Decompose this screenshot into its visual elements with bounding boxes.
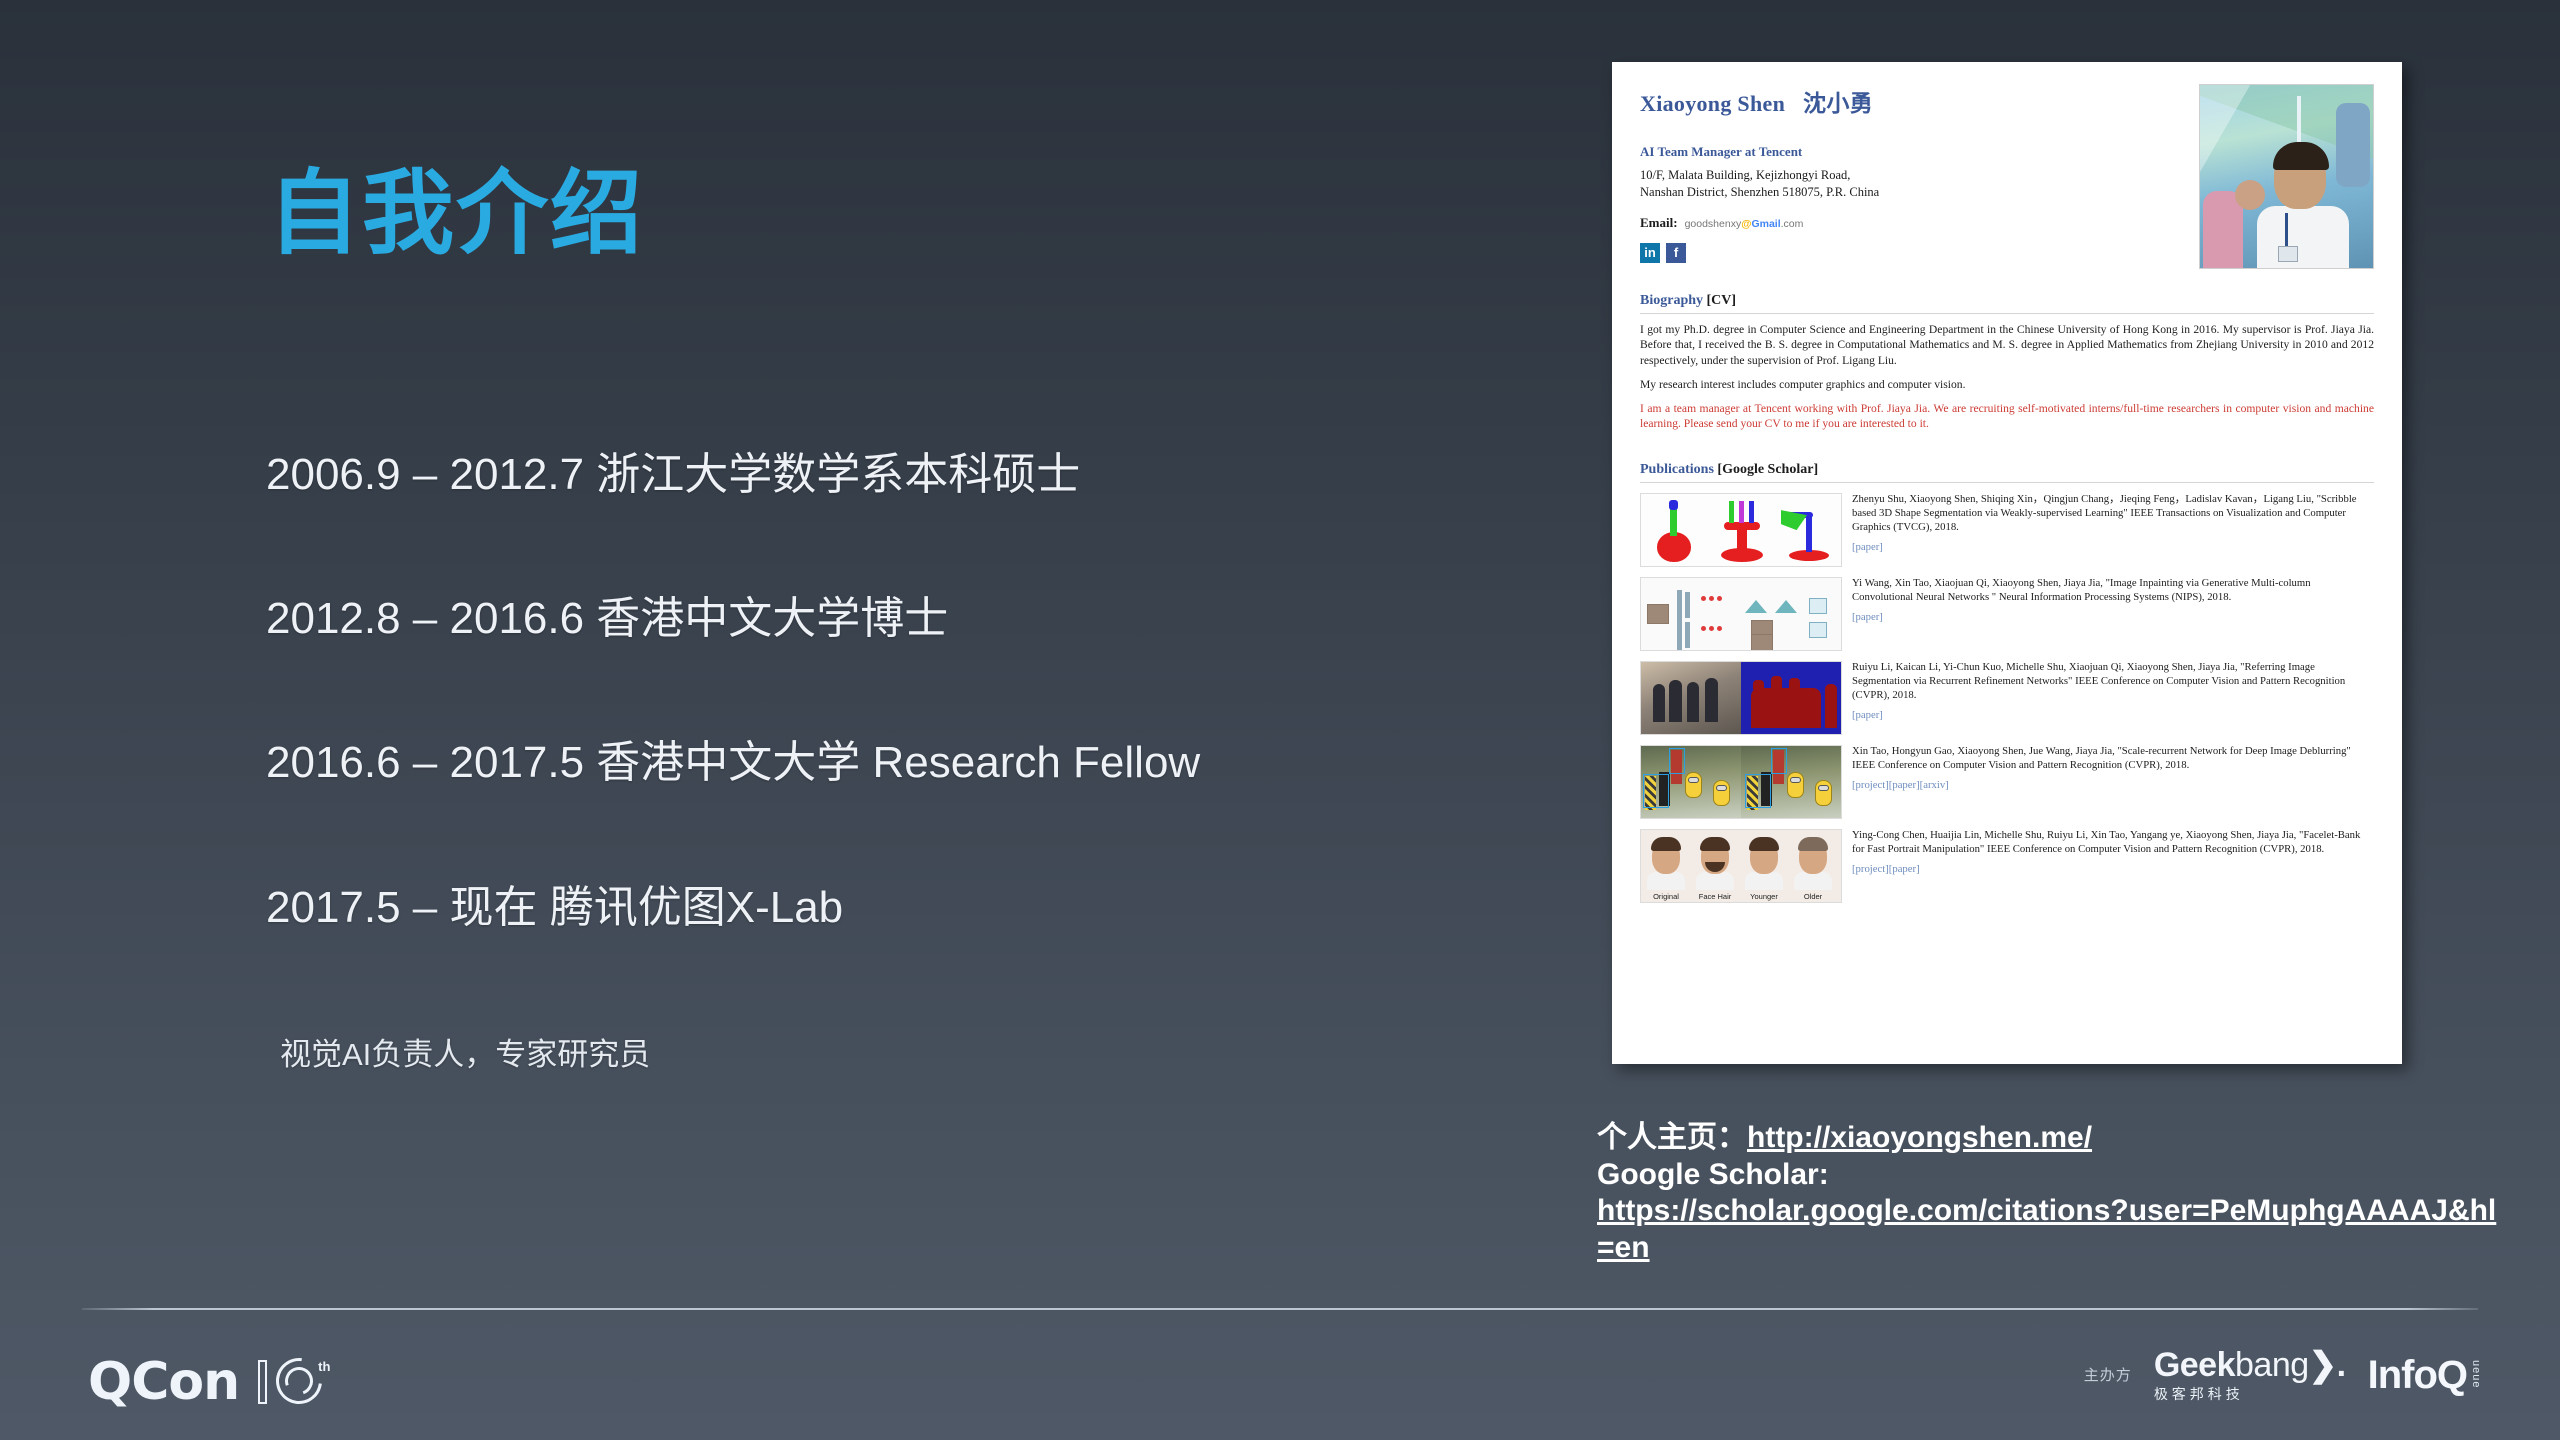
infoq-sub-label: ueue (2470, 1360, 2482, 1388)
sponsor-bar: 主办方 Geekbang❯. 极客邦科技 InfoQ ueue (2084, 1348, 2482, 1401)
timeline-item: 2012.8 – 2016.6 香港中文大学博士 (266, 596, 1546, 642)
timeline-item: 2017.5 – 现在 腾讯优图X-Lab (266, 885, 1546, 931)
publication-thumbnail-segmentation (1640, 661, 1842, 735)
publication-links[interactable]: [paper] (1852, 709, 2374, 723)
scholar-link[interactable]: https://scholar.google.com/citations?use… (1597, 1193, 2497, 1266)
contact-links: 个人主页：http://xiaoyongshen.me/ Google Scho… (1597, 1120, 2497, 1266)
homepage-label: 个人主页： (1597, 1121, 1747, 1154)
homepage-screenshot: Xiaoyong Shen沈小勇 AI Team Manager at Tenc… (1612, 62, 2402, 1064)
profile-photo (2199, 84, 2374, 269)
qcon-anniversary-icon: th (256, 1357, 330, 1407)
publication-citation: Xin Tao, Hongyun Gao, Xiaoyong Shen, Jue… (1852, 745, 2374, 793)
footer-divider (82, 1308, 2478, 1310)
geekbang-cn-label: 极客邦科技 (2154, 1387, 2244, 1401)
email-label: Email: (1640, 215, 1678, 231)
timeline-list: 2006.9 – 2012.7 浙江大学数学系本科硕士 2012.8 – 201… (266, 452, 1546, 1074)
publication-item: Zhenyu Shu, Xiaoyong Shen, Shiqing Xin，Q… (1640, 493, 2374, 567)
biography-paragraph-1: I got my Ph.D. degree in Computer Scienc… (1640, 322, 2374, 369)
infoq-wordmark: InfoQ (2368, 1356, 2467, 1394)
linkedin-icon[interactable]: in (1640, 243, 1660, 263)
biography-paragraph-2: My research interest includes computer g… (1640, 377, 2374, 393)
publication-links[interactable]: [paper] (1852, 541, 2374, 555)
timeline-item: 2006.9 – 2012.7 浙江大学数学系本科硕士 (266, 452, 1546, 498)
homepage-row: 个人主页：http://xiaoyongshen.me/ (1597, 1120, 2497, 1157)
publication-thumbnail-facelet: Original Face Hair Younger Older (1640, 829, 1842, 903)
publications-list: Zhenyu Shu, Xiaoyong Shen, Shiqing Xin，Q… (1640, 493, 2374, 919)
publication-links[interactable]: [project][paper][arxiv] (1852, 779, 2374, 793)
biography-rule (1640, 313, 2374, 314)
publication-thumbnail-deblur (1640, 745, 1842, 819)
qcon-th-label: th (318, 1359, 330, 1374)
geekbang-logo: Geekbang❯. 极客邦科技 (2154, 1348, 2346, 1401)
timeline-subnote: 视觉AI负责人，专家研究员 (280, 1029, 1546, 1074)
publication-links[interactable]: [paper] (1852, 611, 2374, 625)
publication-item: Yi Wang, Xin Tao, Xiaojuan Qi, Xiaoyong … (1640, 577, 2374, 651)
publication-thumbnail-network (1640, 577, 1842, 651)
page-title: 自我介绍 (268, 168, 644, 260)
publication-links[interactable]: [project][paper] (1852, 863, 2374, 877)
publication-item: Original Face Hair Younger Older Ying-Co… (1640, 829, 2374, 903)
homepage-link[interactable]: http://xiaoyongshen.me/ (1747, 1121, 2092, 1154)
facelet-label: Younger (1741, 892, 1787, 901)
facelet-label: Original (1643, 892, 1689, 901)
email-value: goodshenxy@Gmail.com (1685, 218, 1804, 230)
scholar-label: Google Scholar: (1597, 1157, 2497, 1194)
timeline-item: 2016.6 – 2017.5 香港中文大学 Research Fellow (266, 740, 1546, 786)
biography-heading: Biography [CV] (1640, 293, 2374, 309)
publication-item: Xin Tao, Hongyun Gao, Xiaoyong Shen, Jue… (1640, 745, 2374, 819)
publication-citation: Ying-Cong Chen, Huaijia Lin, Michelle Sh… (1852, 829, 2374, 877)
geekbang-wordmark: Geekbang❯. (2154, 1348, 2346, 1382)
publication-citation: Zhenyu Shu, Xiaoyong Shen, Shiqing Xin，Q… (1852, 493, 2374, 555)
publication-citation: Ruiyu Li, Kaican Li, Yi-Chun Kuo, Michel… (1852, 661, 2374, 723)
publication-citation: Yi Wang, Xin Tao, Xiaojuan Qi, Xiaoyong … (1852, 577, 2374, 625)
publication-thumbnail-shapes (1640, 493, 1842, 567)
sponsor-label: 主办方 (2084, 1364, 2132, 1385)
qcon-logo: QCon th (88, 1352, 330, 1412)
biography-recruiting-note: I am a team manager at Tencent working w… (1640, 401, 2374, 433)
publication-item: Ruiyu Li, Kaican Li, Yi-Chun Kuo, Michel… (1640, 661, 2374, 735)
facelet-label: Face Hair (1692, 892, 1738, 901)
publications-rule (1640, 482, 2374, 483)
infoq-logo: InfoQ ueue (2368, 1356, 2482, 1394)
publications-heading: Publications [Google Scholar] (1640, 462, 2374, 478)
facebook-icon[interactable]: f (1666, 243, 1686, 263)
qcon-wordmark: QCon (88, 1352, 239, 1412)
facelet-label: Older (1790, 892, 1836, 901)
